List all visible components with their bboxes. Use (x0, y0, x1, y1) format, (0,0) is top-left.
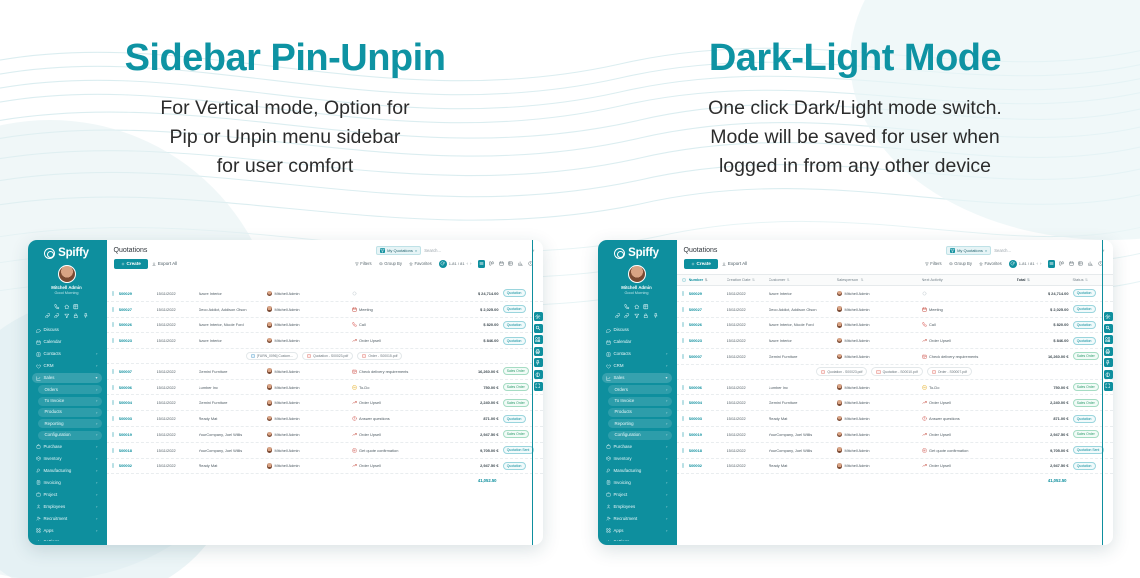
cell-number: S00019 (119, 432, 157, 437)
sidebar-item-orders[interactable]: Orders› (608, 385, 672, 394)
sidebar-item-sales[interactable]: Sales▾ (602, 373, 672, 383)
page-title-left: Sidebar Pin-Unpin (0, 38, 570, 80)
cell-total: 2,947.50 € (447, 463, 499, 468)
sidebar-item-calendar[interactable]: Calendar (602, 337, 672, 347)
sidebar-item-apps[interactable]: Apps› (602, 526, 672, 536)
row-checkbox[interactable] (682, 416, 689, 421)
action-buttons[interactable]: Create Export All (114, 259, 178, 269)
sidebar-item-label: Discuss (614, 328, 668, 332)
table-row[interactable]: S00002 15/11/2022 Ready Mat Mitchell Adm… (676, 459, 1113, 475)
sidebar-item-label: Purchase (614, 445, 664, 449)
row-checkbox[interactable] (112, 307, 119, 312)
view-switcher[interactable] (478, 260, 535, 268)
chevron-right-icon: › (96, 433, 97, 437)
row-checkbox[interactable] (112, 369, 119, 374)
calendar-icon (36, 340, 41, 345)
sidebar-item-label: CRM (44, 364, 94, 368)
sidebar-item-label: Configuration (45, 433, 94, 437)
chevron-right-icon: › (666, 388, 667, 392)
status-badge: Quotation (1073, 337, 1096, 345)
sidebar-item-label: Orders (615, 388, 664, 392)
filter-icon[interactable] (634, 313, 640, 319)
search-facet-my-quotations[interactable]: My Quotations × (376, 246, 421, 255)
row-checkbox[interactable] (682, 432, 689, 437)
refresh-icon[interactable] (1009, 260, 1017, 268)
cell-number: S00019 (689, 432, 727, 437)
cell-creation-date: 15/11/2022 (727, 307, 769, 312)
sidebar-item-contacts[interactable]: Contacts› (602, 349, 672, 359)
cell-next-activity: Meeting (922, 307, 1017, 312)
sidebar-item-orders[interactable]: Orders› (38, 385, 102, 394)
upsell-icon (922, 400, 927, 405)
search-rail-icon[interactable] (534, 324, 543, 333)
cell-customer: Gemini Furniture (769, 354, 837, 359)
table-row[interactable]: S00002 15/11/2022 Ready Mat Mitchell Adm… (106, 459, 543, 475)
column-header-number[interactable]: Number⇅ (689, 277, 727, 282)
cell-next-activity: Meeting (352, 307, 447, 312)
search-facet-my-quotations[interactable]: My Quotations × (946, 246, 991, 255)
attachment-chip[interactable]: [FURN_0096] Custom... (246, 352, 298, 361)
cell-customer: YourCompany, Joel Willis (769, 432, 837, 437)
column-header-total[interactable]: Total⇅ (1017, 277, 1069, 282)
search-rail-icon[interactable] (1104, 324, 1113, 333)
theme-rail-icon[interactable] (534, 370, 543, 379)
view-switcher[interactable] (1048, 260, 1105, 268)
attachment-chip[interactable]: Quotation - S00023.pdf (302, 352, 353, 361)
print-rail-icon[interactable] (1104, 347, 1113, 356)
table-row[interactable]: S00026 15/11/2022 Azure Interior, Nicole… (676, 318, 1113, 334)
sidebar-edge-line (106, 240, 107, 545)
row-checkbox[interactable] (682, 463, 689, 468)
sidebar-menu[interactable]: DiscussCalendarContacts›CRM›Sales▾Orders… (32, 325, 102, 541)
home-icon[interactable] (634, 304, 640, 310)
lock-icon[interactable] (643, 313, 649, 319)
chevron-right-icon: › (666, 469, 667, 473)
pager-prev-button[interactable]: ‹ (467, 261, 469, 266)
row-checkbox[interactable] (112, 385, 119, 390)
cell-creation-date: 15/11/2022 (157, 291, 199, 296)
pin-rail-icon[interactable] (1104, 358, 1113, 367)
pager-next-button[interactable]: › (1040, 261, 1042, 266)
cell-total: $ 846.00 (447, 338, 499, 343)
sidebar-item-sales[interactable]: Sales▾ (32, 373, 102, 383)
sidebar-item-invoicing[interactable]: Invoicing› (32, 478, 102, 488)
create-button[interactable]: Create (684, 259, 718, 269)
sidebar-item-products[interactable]: Products› (608, 408, 672, 417)
calendar-view-icon[interactable] (1067, 260, 1075, 268)
pin-icon[interactable] (653, 313, 659, 319)
invoicing-icon (606, 480, 611, 485)
filters-button[interactable]: Filters (923, 260, 944, 267)
search-area[interactable]: My Quotations × Search... ▾ (946, 246, 1104, 255)
favorites-button[interactable]: Favorites (977, 260, 1004, 267)
row-checkbox[interactable] (112, 291, 119, 296)
user-profile[interactable]: Mitchell Admin Good Morning (32, 265, 102, 296)
cell-creation-date: 15/11/2022 (727, 400, 769, 405)
cell-customer: YourCompany, Joel Willis (769, 448, 837, 453)
sidebar-item-inventory[interactable]: Inventory› (32, 454, 102, 464)
cell-customer: Ready Mat (769, 416, 837, 421)
cell-salesperson: Mitchell Admin (837, 306, 922, 312)
row-checkbox[interactable] (112, 338, 119, 343)
sidebar-item-settings[interactable]: Settings› (32, 538, 102, 541)
calendar-icon (606, 340, 611, 345)
filters-button[interactable]: Filters (353, 260, 374, 267)
salesperson-avatar (267, 322, 273, 328)
table-row[interactable]: S00029 15/11/2022 Azure Interior Mitchel… (106, 286, 543, 302)
fullscreen-rail-icon[interactable] (534, 382, 543, 391)
cell-salesperson: Mitchell Admin (837, 384, 922, 390)
settings-icon (36, 540, 41, 541)
sidebar-item-to-invoice[interactable]: To Invoice› (608, 397, 672, 406)
sidebar-item-reporting[interactable]: Reporting› (38, 419, 102, 428)
sidebar-item-project[interactable]: Project› (602, 490, 672, 500)
list-view-icon[interactable] (1048, 260, 1056, 268)
app-mockups-row: Spiffy Mitchell Admin Good Morning Discu… (0, 240, 1140, 545)
question-icon (352, 416, 357, 421)
group-by-button[interactable]: Group By (947, 260, 974, 267)
app-window-left[interactable]: Spiffy Mitchell Admin Good Morning Discu… (28, 240, 543, 545)
attachment-chip[interactable]: Order - S00015.pdf (357, 352, 402, 361)
row-checkbox[interactable] (682, 400, 689, 405)
graph-view-icon[interactable] (517, 260, 525, 268)
quick-icons-row-2[interactable] (32, 313, 102, 319)
attachment-chip[interactable]: Quotation - S00010.pdf (871, 367, 922, 376)
link-icon[interactable] (615, 313, 621, 319)
salesperson-avatar (837, 306, 843, 312)
status-badge: Sales Order (503, 367, 529, 375)
row-checkbox[interactable] (682, 354, 689, 359)
avatar[interactable] (628, 265, 646, 283)
facet-remove-icon[interactable]: × (415, 248, 417, 253)
export-all-button[interactable]: Export All (152, 261, 177, 266)
sidebar-item-manufacturing[interactable]: Manufacturing› (32, 466, 102, 476)
table-row[interactable]: S00019 15/11/2022 YourCompany, Joel Will… (676, 427, 1113, 443)
column-header-next-activity[interactable]: Next Activity (922, 277, 1017, 282)
subtitle-line: for user comfort (0, 152, 570, 181)
quick-icons-row-2[interactable] (602, 313, 672, 319)
table-row[interactable]: S00004 15/11/2022 Gemini Furniture Mitch… (106, 395, 543, 411)
sidebar-item-invoicing[interactable]: Invoicing› (602, 478, 672, 488)
row-checkbox[interactable] (112, 463, 119, 468)
chevron-right-icon: › (666, 493, 667, 497)
sidebar-item-inventory[interactable]: Inventory› (602, 454, 672, 464)
cell-next-activity: Order Upsell (352, 432, 447, 437)
funnel-icon (355, 262, 359, 266)
cell-next-activity (352, 291, 447, 296)
search-input[interactable]: Search... (994, 248, 1099, 253)
column-header-customer[interactable]: Customer⇅ (769, 277, 837, 282)
floating-toolbar[interactable] (534, 312, 543, 391)
sidebar-item-to-invoice[interactable]: To Invoice› (38, 397, 102, 406)
chevron-right-icon: › (666, 445, 667, 449)
cell-next-activity: Order Upsell (922, 463, 1017, 468)
cell-next-activity: Order Upsell (922, 432, 1017, 437)
group-by-button[interactable]: Group By (377, 260, 404, 267)
sidebar-item-label: Inventory (614, 457, 664, 461)
table-row[interactable]: S00023 15/11/2022 Azure Interior Mitchel… (106, 333, 543, 349)
phone-icon[interactable] (54, 304, 60, 310)
cell-total: $ 24,714.00 (447, 291, 499, 296)
sidebar-item-purchase[interactable]: Purchase› (602, 442, 672, 452)
sidebar-item-configuration[interactable]: Configuration› (608, 431, 672, 440)
column-header-creation-date[interactable]: Creation Date⇅ (727, 277, 769, 282)
footer-total: 41,052.50 (478, 478, 497, 483)
layers-icon (379, 262, 383, 266)
pdf-icon (307, 354, 311, 358)
row-checkbox[interactable] (112, 416, 119, 421)
cell-creation-date: 15/11/2022 (727, 322, 769, 327)
export-all-button[interactable]: Export All (722, 261, 747, 266)
salesperson-avatar (267, 291, 273, 297)
salesperson-avatar (837, 463, 843, 469)
manufacturing-icon (606, 468, 611, 473)
table-row[interactable]: S00027 15/11/2022 Deco Addict, Addison O… (676, 302, 1113, 318)
list-view-icon[interactable] (478, 260, 486, 268)
salesperson-avatar (837, 338, 843, 344)
content-title: Quotations (114, 247, 148, 254)
status-badge: Quotation (1073, 462, 1096, 470)
sidebar-item-recruitment[interactable]: Recruitment› (32, 514, 102, 524)
status-badge: Quotation (1073, 289, 1096, 297)
sidebar-item-apps[interactable]: Apps› (32, 526, 102, 536)
pager-prev-button[interactable]: ‹ (1037, 261, 1039, 266)
plus-icon (121, 262, 125, 266)
sidebar-item-label: Settings (44, 540, 94, 541)
floating-toolbar[interactable] (1104, 312, 1113, 391)
cell-next-activity: To-Do (352, 385, 447, 390)
sidebar-edge-line (676, 240, 677, 545)
settings-gear-icon[interactable] (1104, 312, 1113, 321)
sidebar-item-configuration[interactable]: Configuration› (38, 431, 102, 440)
search-input[interactable]: Search... (424, 248, 529, 253)
app-window-right[interactable]: Spiffy Mitchell Admin Good Morning Discu… (598, 240, 1113, 545)
sidebar-item-label: Orders (45, 388, 94, 392)
view-controls[interactable]: Filters Group By Favorites 1-81 / 81 ‹ › (923, 260, 1105, 268)
quick-icons-row-1[interactable] (602, 304, 672, 310)
brand-logo[interactable]: Spiffy (32, 247, 102, 259)
cell-total: 750.00 € (1017, 385, 1069, 390)
chevron-right-icon: › (666, 422, 667, 426)
page-title-right: Dark-Light Mode (570, 38, 1140, 80)
sidebar-item-employees[interactable]: Employees› (32, 502, 102, 512)
chevron-right-icon: › (666, 529, 667, 533)
sidebar-item-settings[interactable]: Settings› (602, 538, 672, 541)
row-checkbox[interactable] (682, 385, 689, 390)
kanban-view-icon[interactable] (1057, 260, 1065, 268)
sidebar-item-manufacturing[interactable]: Manufacturing› (602, 466, 672, 476)
table-row[interactable]: S00026 15/11/2022 Azure Interior, Nicole… (106, 318, 543, 334)
sales-icon (606, 376, 611, 381)
row-checkbox[interactable] (112, 400, 119, 405)
sidebar[interactable]: Spiffy Mitchell Admin Good Morning Discu… (598, 240, 676, 545)
fullscreen-rail-icon[interactable] (1104, 382, 1113, 391)
sidebar-item-purchase[interactable]: Purchase› (32, 442, 102, 452)
cell-number: S00002 (119, 463, 157, 468)
row-checkbox[interactable] (682, 291, 689, 296)
quote-icon (922, 448, 927, 453)
filter-icon[interactable] (64, 313, 70, 319)
facet-remove-icon[interactable]: × (985, 248, 987, 253)
salesperson-avatar (837, 432, 843, 438)
chevron-right-icon: › (96, 445, 97, 449)
salesperson-avatar (267, 463, 273, 469)
attachment-chip[interactable]: Order - S00007.pdf (927, 367, 972, 376)
home-icon[interactable] (64, 304, 70, 310)
sidebar-item-contacts[interactable]: Contacts› (32, 349, 102, 359)
table-row[interactable]: S00018 15/11/2022 YourCompany, Joel Will… (676, 443, 1113, 459)
table-row[interactable]: S00006 15/11/2022 Lumber Inc Mitchell Ad… (676, 380, 1113, 396)
image-icon (251, 354, 255, 358)
cell-salesperson: Mitchell Admin (837, 338, 922, 344)
mockup-column-right: Spiffy Mitchell Admin Good Morning Discu… (570, 240, 1140, 545)
contacts-icon (606, 352, 611, 357)
cell-number: S00003 (119, 416, 157, 421)
cell-next-activity: Order Upsell (352, 463, 447, 468)
table-row[interactable]: S00023 15/11/2022 Azure Interior Mitchel… (676, 333, 1113, 349)
link-icon[interactable] (45, 313, 51, 319)
page-subtitle-right: One click Dark/Light mode switch. Mode w… (570, 94, 1140, 181)
cell-total: 16,260.00 € (447, 369, 499, 374)
sidebar-item-discuss[interactable]: Discuss (32, 325, 102, 335)
apps-rail-icon[interactable] (534, 335, 543, 344)
link-alt-icon[interactable] (54, 313, 60, 319)
row-checkbox[interactable] (682, 338, 689, 343)
star-icon (409, 262, 413, 266)
chevron-right-icon: › (96, 399, 97, 403)
toolbar-bottom-row: Create Export All Filters Group By Favor… (114, 259, 535, 269)
table-row[interactable]: S00029 15/11/2022 Azure Interior Mitchel… (676, 286, 1113, 302)
table-row[interactable]: S00003 15/11/2022 Ready Mat Mitchell Adm… (106, 411, 543, 427)
cell-total: $ 24,714.00 (1017, 291, 1069, 296)
pager[interactable]: 1-81 / 81 ‹ › (439, 260, 472, 268)
action-buttons[interactable]: Create Export All (684, 259, 748, 269)
row-checkbox[interactable] (682, 448, 689, 453)
link-alt-icon[interactable] (624, 313, 630, 319)
table-row[interactable]: S00027 15/11/2022 Deco Addict, Addison O… (106, 302, 543, 318)
table-row[interactable]: S00007 15/11/2022 Gemini Furniture Mitch… (106, 364, 543, 380)
column-header-salesperson[interactable]: Salesperson⇅ (837, 277, 922, 282)
settings-gear-icon[interactable] (534, 312, 543, 321)
graph-view-icon[interactable] (1087, 260, 1095, 268)
page-subtitle-left: For Vertical mode, Option for Pip or Unp… (0, 94, 570, 181)
pager[interactable]: 1-81 / 81 ‹ › (1009, 260, 1042, 268)
table-row[interactable]: S00006 15/11/2022 Lumber Inc Mitchell Ad… (106, 380, 543, 396)
sidebar-item-label: Employees (44, 505, 94, 509)
user-profile[interactable]: Mitchell Admin Good Morning (602, 265, 672, 296)
row-checkbox[interactable] (112, 322, 119, 327)
cell-total: $ 820.00 (1017, 322, 1069, 327)
sidebar-item-crm[interactable]: CRM› (602, 361, 672, 371)
todo-icon (352, 385, 357, 390)
grid-icon[interactable] (643, 304, 649, 310)
cell-customer: Azure Interior (199, 338, 267, 343)
table-row[interactable]: S00007 15/11/2022 Gemini Furniture Mitch… (676, 349, 1113, 365)
quick-icons-row-1[interactable] (32, 304, 102, 310)
status-badge: Quotation (1073, 321, 1096, 329)
salesperson-avatar (267, 368, 273, 374)
table-row[interactable]: S00003 15/11/2022 Ready Mat Mitchell Adm… (676, 411, 1113, 427)
cell-customer: Lumber Inc (769, 385, 837, 390)
attachment-chip[interactable]: Quotation - S00023.pdf (816, 367, 867, 376)
row-checkbox[interactable] (682, 322, 689, 327)
sidebar[interactable]: Spiffy Mitchell Admin Good Morning Discu… (28, 240, 106, 545)
select-all-checkbox[interactable] (682, 278, 689, 282)
sidebar-item-products[interactable]: Products› (38, 408, 102, 417)
chat-icon (606, 328, 611, 333)
inventory-icon (606, 456, 611, 461)
invoicing-icon (36, 480, 41, 485)
sidebar-item-crm[interactable]: CRM› (32, 361, 102, 371)
cell-salesperson: Mitchell Admin (837, 322, 922, 328)
cell-next-activity: Get quote confirmation (352, 448, 447, 453)
sidebar-item-project[interactable]: Project› (32, 490, 102, 500)
cell-next-activity: To-Do (922, 385, 1017, 390)
table-row[interactable]: S00004 15/11/2022 Gemini Furniture Mitch… (676, 395, 1113, 411)
salesperson-avatar (837, 322, 843, 328)
create-button[interactable]: Create (114, 259, 148, 269)
pivot-view-icon[interactable] (507, 260, 515, 268)
chat-icon (36, 328, 41, 333)
print-rail-icon[interactable] (534, 347, 543, 356)
status-badge: Quotation (503, 462, 526, 470)
calendar-view-icon[interactable] (497, 260, 505, 268)
view-controls[interactable]: Filters Group By Favorites 1-81 / 81 ‹ › (353, 260, 535, 268)
lock-icon[interactable] (73, 313, 79, 319)
delivery-icon (352, 369, 357, 374)
pin-icon[interactable] (83, 313, 89, 319)
apps-rail-icon[interactable] (1104, 335, 1113, 344)
pin-rail-icon[interactable] (534, 358, 543, 367)
cell-next-activity: Order Upsell (922, 338, 1017, 343)
sidebar-item-label: Reporting (615, 422, 664, 426)
refresh-icon[interactable] (439, 260, 447, 268)
pivot-view-icon[interactable] (1077, 260, 1085, 268)
cell-creation-date: 15/11/2022 (727, 416, 769, 421)
chevron-down-icon: ▾ (95, 376, 97, 380)
search-area[interactable]: My Quotations × Search... ▾ (376, 246, 534, 255)
table-row[interactable]: S00019 15/11/2022 YourCompany, Joel Will… (106, 427, 543, 443)
cell-total: 2,947.50 € (447, 432, 499, 437)
phone-icon[interactable] (624, 304, 630, 310)
avatar[interactable] (58, 265, 76, 283)
sidebar-menu[interactable]: DiscussCalendarContacts›CRM›Sales▾Orders… (602, 325, 672, 541)
pager-next-button[interactable]: › (470, 261, 472, 266)
cell-customer: Gemini Furniture (199, 369, 267, 374)
favorites-button[interactable]: Favorites (407, 260, 434, 267)
brand-logo[interactable]: Spiffy (602, 247, 672, 259)
table-row[interactable]: S00018 15/11/2022 YourCompany, Joel Will… (106, 443, 543, 459)
sidebar-item-reporting[interactable]: Reporting› (608, 419, 672, 428)
row-checkbox[interactable] (112, 432, 119, 437)
grid-icon[interactable] (73, 304, 79, 310)
row-checkbox[interactable] (682, 307, 689, 312)
cell-number: S00002 (689, 463, 727, 468)
sidebar-item-discuss[interactable]: Discuss (602, 325, 672, 335)
sidebar-item-label: Manufacturing (614, 469, 664, 473)
favorites-label: Favorites (985, 261, 1002, 266)
kanban-view-icon[interactable] (487, 260, 495, 268)
theme-rail-icon[interactable] (1104, 370, 1113, 379)
sidebar-item-employees[interactable]: Employees› (602, 502, 672, 512)
sidebar-item-recruitment[interactable]: Recruitment› (602, 514, 672, 524)
download-icon (152, 262, 156, 266)
salesperson-avatar (837, 291, 843, 297)
favorites-label: Favorites (415, 261, 432, 266)
cell-creation-date: 15/11/2022 (727, 354, 769, 359)
sidebar-item-calendar[interactable]: Calendar (32, 337, 102, 347)
row-checkbox[interactable] (112, 448, 119, 453)
